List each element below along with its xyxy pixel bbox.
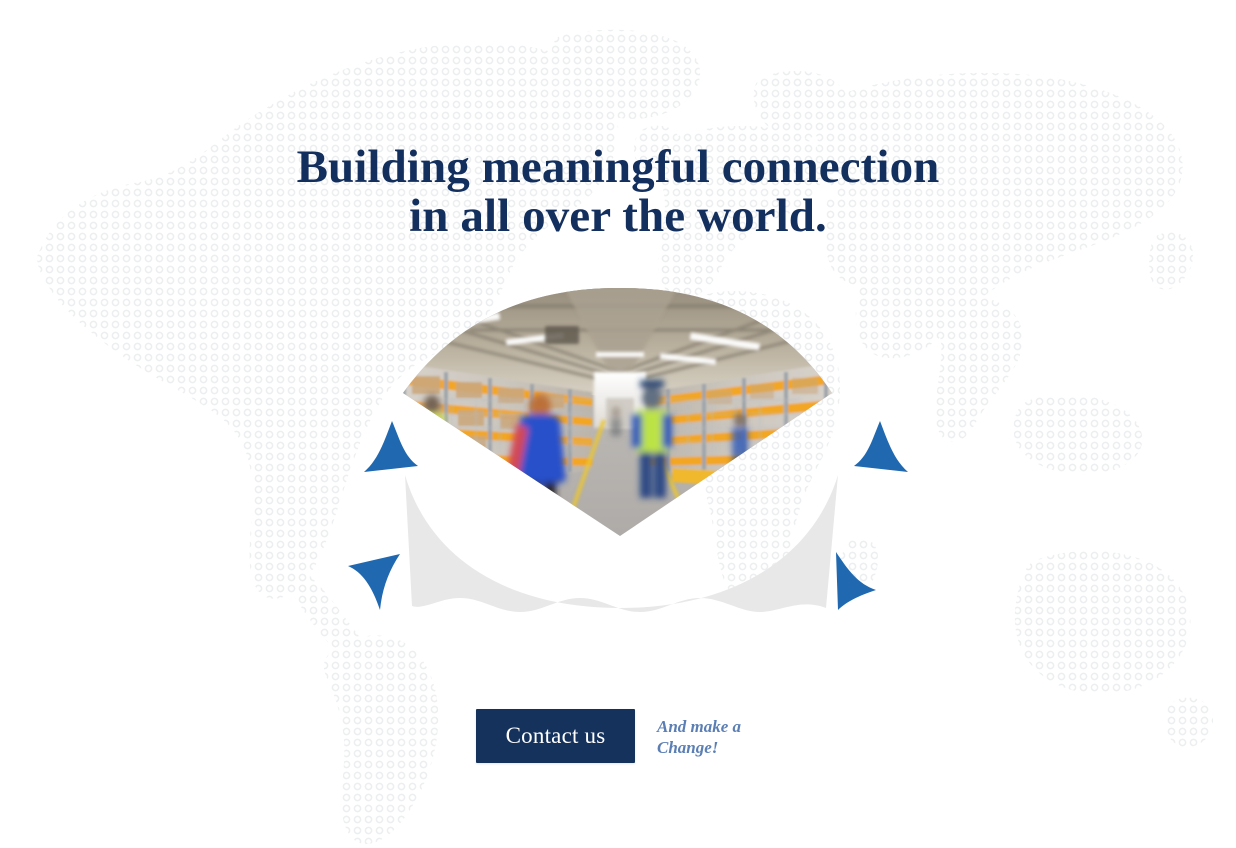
- sail-lower-left-icon: [348, 554, 400, 610]
- hero-section: Building meaningful connection in all ov…: [0, 0, 1236, 848]
- warehouse-photo: [380, 280, 850, 550]
- cta-tagline: And make a Change!: [657, 717, 741, 758]
- page-title-line-1: Building meaningful connection: [0, 143, 1236, 192]
- sail-upper-left-icon: [364, 421, 418, 472]
- cta-tagline-line-1: And make a: [657, 717, 741, 736]
- sail-upper-right-icon: [854, 421, 908, 472]
- sail-lower-right-icon: [836, 552, 876, 610]
- page-title-line-2: in all over the world.: [0, 192, 1236, 241]
- cta-tagline-line-2: Change!: [657, 738, 718, 757]
- contact-us-button[interactable]: Contact us: [476, 709, 635, 763]
- cta-row: Contact us And make a Change!: [476, 709, 741, 763]
- page-title: Building meaningful connection in all ov…: [0, 143, 1236, 241]
